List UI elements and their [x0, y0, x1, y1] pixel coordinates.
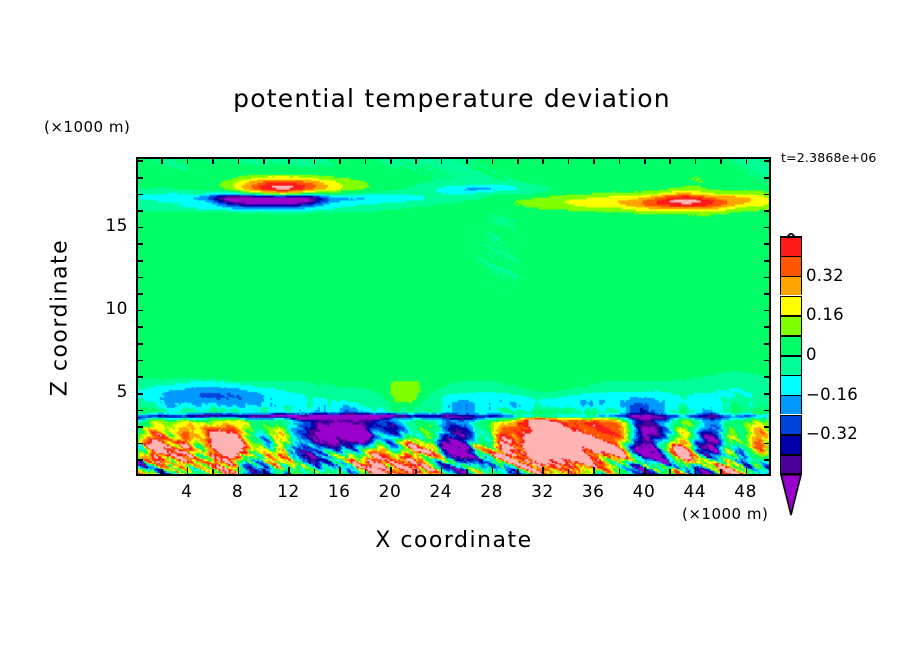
x-tick-label: 4: [165, 482, 209, 502]
x-tick-minor: [669, 469, 671, 476]
colorbar-band-separator: [780, 415, 802, 417]
x-tick-minor-top: [288, 157, 290, 164]
y-axis-units-label: (×1000 m): [44, 118, 130, 136]
y-tick-minor-right: [764, 343, 771, 345]
colorbar-band: [780, 395, 802, 415]
colorbar-band: [780, 375, 802, 395]
colorbar-band-separator: [780, 355, 802, 357]
colorbar-tick-label: 0: [806, 345, 817, 364]
y-tick-minor: [136, 277, 143, 279]
y-tick-minor-right: [764, 277, 771, 279]
x-tick-minor-top: [593, 157, 595, 164]
colorbar-tick-label: 0.32: [806, 266, 844, 285]
colorbar-band: [780, 236, 802, 256]
x-tick-minor-top: [415, 157, 417, 164]
colorbar-band-separator: [780, 256, 802, 258]
x-tick-label: 40: [622, 482, 666, 502]
y-tick-minor: [136, 426, 143, 428]
x-tick-minor-top: [187, 157, 189, 164]
x-tick-minor-top: [517, 157, 519, 164]
colorbar-band: [780, 454, 802, 474]
y-tick-label: 5: [84, 382, 128, 402]
x-tick-label: 28: [470, 482, 514, 502]
x-tick-minor: [466, 469, 468, 476]
colorbar-band-separator: [780, 454, 802, 456]
y-tick-minor: [136, 160, 143, 162]
timestamp-annotation: t=2.3868e+06: [781, 150, 877, 165]
y-tick-minor: [136, 410, 143, 412]
x-tick-minor-top: [212, 157, 214, 164]
colorbar-tick-label: −0.32: [806, 424, 858, 443]
y-tick-minor: [136, 343, 143, 345]
x-tick-minor-top: [161, 157, 163, 164]
y-tick-minor-right: [764, 326, 771, 328]
y-tick-minor-right: [764, 310, 771, 312]
x-tick-label: 44: [673, 482, 717, 502]
x-tick-minor: [568, 469, 570, 476]
colorbar-band: [780, 276, 802, 296]
colorbar: [780, 236, 802, 474]
colorbar-band: [780, 296, 802, 316]
y-tick-minor: [136, 260, 143, 262]
colorbar-band: [780, 415, 802, 435]
y-tick-minor-right: [764, 293, 771, 295]
y-tick-major: [136, 227, 143, 229]
y-tick-minor-right: [764, 210, 771, 212]
x-tick-major: [542, 467, 544, 474]
x-tick-major: [339, 467, 341, 474]
x-tick-label: 20: [368, 482, 412, 502]
x-tick-minor-top: [542, 157, 544, 164]
page-title: potential temperature deviation: [0, 84, 904, 113]
colorbar-band: [780, 355, 802, 375]
y-tick-minor-right: [764, 426, 771, 428]
x-tick-label: 16: [317, 482, 361, 502]
x-tick-minor-top: [390, 157, 392, 164]
colorbar-band-separator: [780, 375, 802, 377]
y-tick-minor-right: [764, 194, 771, 196]
x-tick-label: 8: [216, 482, 260, 502]
x-tick-minor-top: [441, 157, 443, 164]
y-tick-minor: [136, 443, 143, 445]
x-tick-minor: [263, 469, 265, 476]
colorbar-band-separator: [780, 395, 802, 397]
y-tick-minor: [136, 376, 143, 378]
x-tick-minor-top: [695, 157, 697, 164]
x-tick-major: [644, 467, 646, 474]
y-tick-minor-right: [764, 260, 771, 262]
x-tick-minor-top: [492, 157, 494, 164]
x-tick-minor: [212, 469, 214, 476]
x-tick-minor-top: [238, 157, 240, 164]
x-tick-label: 36: [571, 482, 615, 502]
y-tick-minor-right: [764, 360, 771, 362]
colorbar-tick-label: 0.16: [806, 305, 844, 324]
colorbar-band: [780, 256, 802, 276]
x-tick-major: [695, 467, 697, 474]
y-tick-minor-right: [764, 160, 771, 162]
y-tick-minor-right: [764, 227, 771, 229]
x-tick-minor: [619, 469, 621, 476]
y-tick-label: 10: [84, 299, 128, 319]
x-tick-label: 32: [520, 482, 564, 502]
x-tick-major: [288, 467, 290, 474]
colorbar-band-separator: [780, 296, 802, 298]
y-tick-minor-right: [764, 177, 771, 179]
y-tick-minor: [136, 459, 143, 461]
x-tick-major: [390, 467, 392, 474]
colorbar-band-separator: [780, 276, 802, 278]
x-tick-minor: [720, 469, 722, 476]
y-axis-title: Z coordinate: [48, 218, 73, 418]
y-tick-minor-right: [764, 243, 771, 245]
colorbar-band: [780, 335, 802, 355]
y-tick-minor: [136, 194, 143, 196]
x-tick-minor-top: [466, 157, 468, 164]
x-tick-minor-top: [263, 157, 265, 164]
y-tick-minor: [136, 210, 143, 212]
y-tick-minor: [136, 326, 143, 328]
y-tick-minor-right: [764, 410, 771, 412]
x-tick-major: [593, 467, 595, 474]
x-tick-minor: [517, 469, 519, 476]
x-tick-label: 12: [266, 482, 310, 502]
x-tick-major: [492, 467, 494, 474]
y-tick-minor-right: [764, 376, 771, 378]
x-tick-minor-top: [619, 157, 621, 164]
x-tick-minor-top: [314, 157, 316, 164]
x-tick-minor-top: [720, 157, 722, 164]
y-tick-minor-right: [764, 443, 771, 445]
colorbar-tick-label: −0.16: [806, 385, 858, 404]
y-tick-minor-right: [764, 459, 771, 461]
x-tick-major: [746, 467, 748, 474]
y-tick-minor: [136, 293, 143, 295]
y-tick-major: [136, 393, 143, 395]
x-tick-minor: [415, 469, 417, 476]
y-tick-minor-right: [764, 393, 771, 395]
colorbar-under-arrow: [780, 474, 802, 516]
colorbar-band-separator: [780, 335, 802, 337]
contour-plot-area: [136, 157, 771, 476]
x-tick-minor-top: [644, 157, 646, 164]
x-tick-minor-top: [339, 157, 341, 164]
x-tick-major: [238, 467, 240, 474]
x-tick-minor-top: [568, 157, 570, 164]
colorbar-band-separator: [780, 236, 802, 238]
colorbar-band: [780, 434, 802, 454]
x-tick-minor: [365, 469, 367, 476]
colorbar-band: [780, 315, 802, 335]
x-tick-major: [187, 467, 189, 474]
y-tick-minor: [136, 243, 143, 245]
colorbar-band-separator: [780, 315, 802, 317]
x-tick-major: [441, 467, 443, 474]
contour-field: [138, 159, 769, 474]
x-axis-title: X coordinate: [136, 528, 772, 553]
y-tick-label: 15: [84, 216, 128, 236]
y-tick-minor: [136, 360, 143, 362]
x-tick-label: 24: [419, 482, 463, 502]
x-tick-minor-top: [365, 157, 367, 164]
x-tick-label: 48: [724, 482, 768, 502]
x-tick-minor: [314, 469, 316, 476]
y-tick-major: [136, 310, 143, 312]
x-tick-minor-top: [669, 157, 671, 164]
colorbar-band-separator: [780, 434, 802, 436]
figure-canvas: potential temperature deviation (×1000 m…: [0, 0, 904, 654]
x-tick-minor: [161, 469, 163, 476]
y-tick-minor: [136, 177, 143, 179]
x-tick-minor-top: [746, 157, 748, 164]
x-axis-units-label: (×1000 m): [682, 505, 768, 523]
